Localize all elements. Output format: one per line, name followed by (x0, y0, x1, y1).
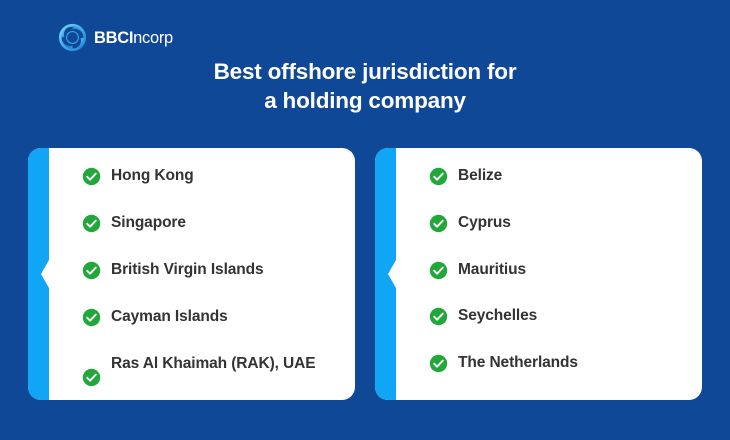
check-circle-icon (429, 307, 448, 326)
list-item-label: Mauritius (458, 260, 526, 280)
check-circle-icon (82, 214, 101, 233)
jurisdiction-card-group: Hong Kong Singapore British Virgin Islan… (28, 148, 702, 400)
brand-name-light: ncorp (133, 29, 173, 47)
list-item-label: Cyprus (458, 213, 511, 233)
jurisdiction-list-right: Belize Cyprus Mauritius (429, 148, 692, 400)
check-circle-icon (429, 167, 448, 186)
brand-logo[interactable]: BBCIncorp (58, 21, 173, 53)
list-item-label: Hong Kong (111, 166, 194, 186)
list-item[interactable]: Singapore (82, 213, 345, 260)
list-item[interactable]: British Virgin Islands (82, 260, 345, 307)
check-circle-icon (82, 308, 101, 327)
bbcincorp-swirl-icon (58, 23, 87, 52)
page-title-line-2: a holding company (0, 87, 730, 116)
check-circle-icon (429, 214, 448, 233)
accent-bar-chevron-right (375, 148, 396, 400)
list-item[interactable]: Cayman Islands (82, 307, 345, 354)
list-item[interactable]: Hong Kong (82, 166, 345, 213)
list-item[interactable]: Seychelles (429, 306, 692, 353)
list-item[interactable]: Ras Al Khaimah (RAK), UAE (82, 354, 345, 387)
list-item-label: Ras Al Khaimah (RAK), UAE (111, 354, 315, 374)
list-item[interactable]: The Netherlands (429, 353, 692, 400)
list-item-label: British Virgin Islands (111, 260, 264, 280)
check-circle-icon (429, 261, 448, 280)
check-circle-icon (429, 354, 448, 373)
jurisdiction-card-right: Belize Cyprus Mauritius (375, 148, 702, 400)
list-item[interactable]: Mauritius (429, 260, 692, 307)
list-item-label: Seychelles (458, 306, 537, 326)
list-item-label: Cayman Islands (111, 307, 228, 327)
check-circle-icon (82, 261, 101, 280)
list-item[interactable]: Cyprus (429, 213, 692, 260)
list-item-label: The Netherlands (458, 353, 578, 373)
list-item-label: Singapore (111, 213, 186, 233)
list-item[interactable]: Belize (429, 166, 692, 213)
jurisdiction-card-left: Hong Kong Singapore British Virgin Islan… (28, 148, 355, 400)
page-title-line-1: Best offshore jurisdiction for (0, 58, 730, 87)
brand-name: BBCIncorp (94, 30, 173, 47)
check-circle-icon (82, 167, 101, 186)
accent-bar-chevron-left (28, 148, 49, 400)
jurisdiction-list-left: Hong Kong Singapore British Virgin Islan… (82, 148, 345, 400)
brand-name-bold: BBCI (94, 29, 133, 47)
check-circle-icon (82, 368, 101, 387)
list-item-label: Belize (458, 166, 502, 186)
page-title: Best offshore jurisdiction for a holding… (0, 58, 730, 115)
